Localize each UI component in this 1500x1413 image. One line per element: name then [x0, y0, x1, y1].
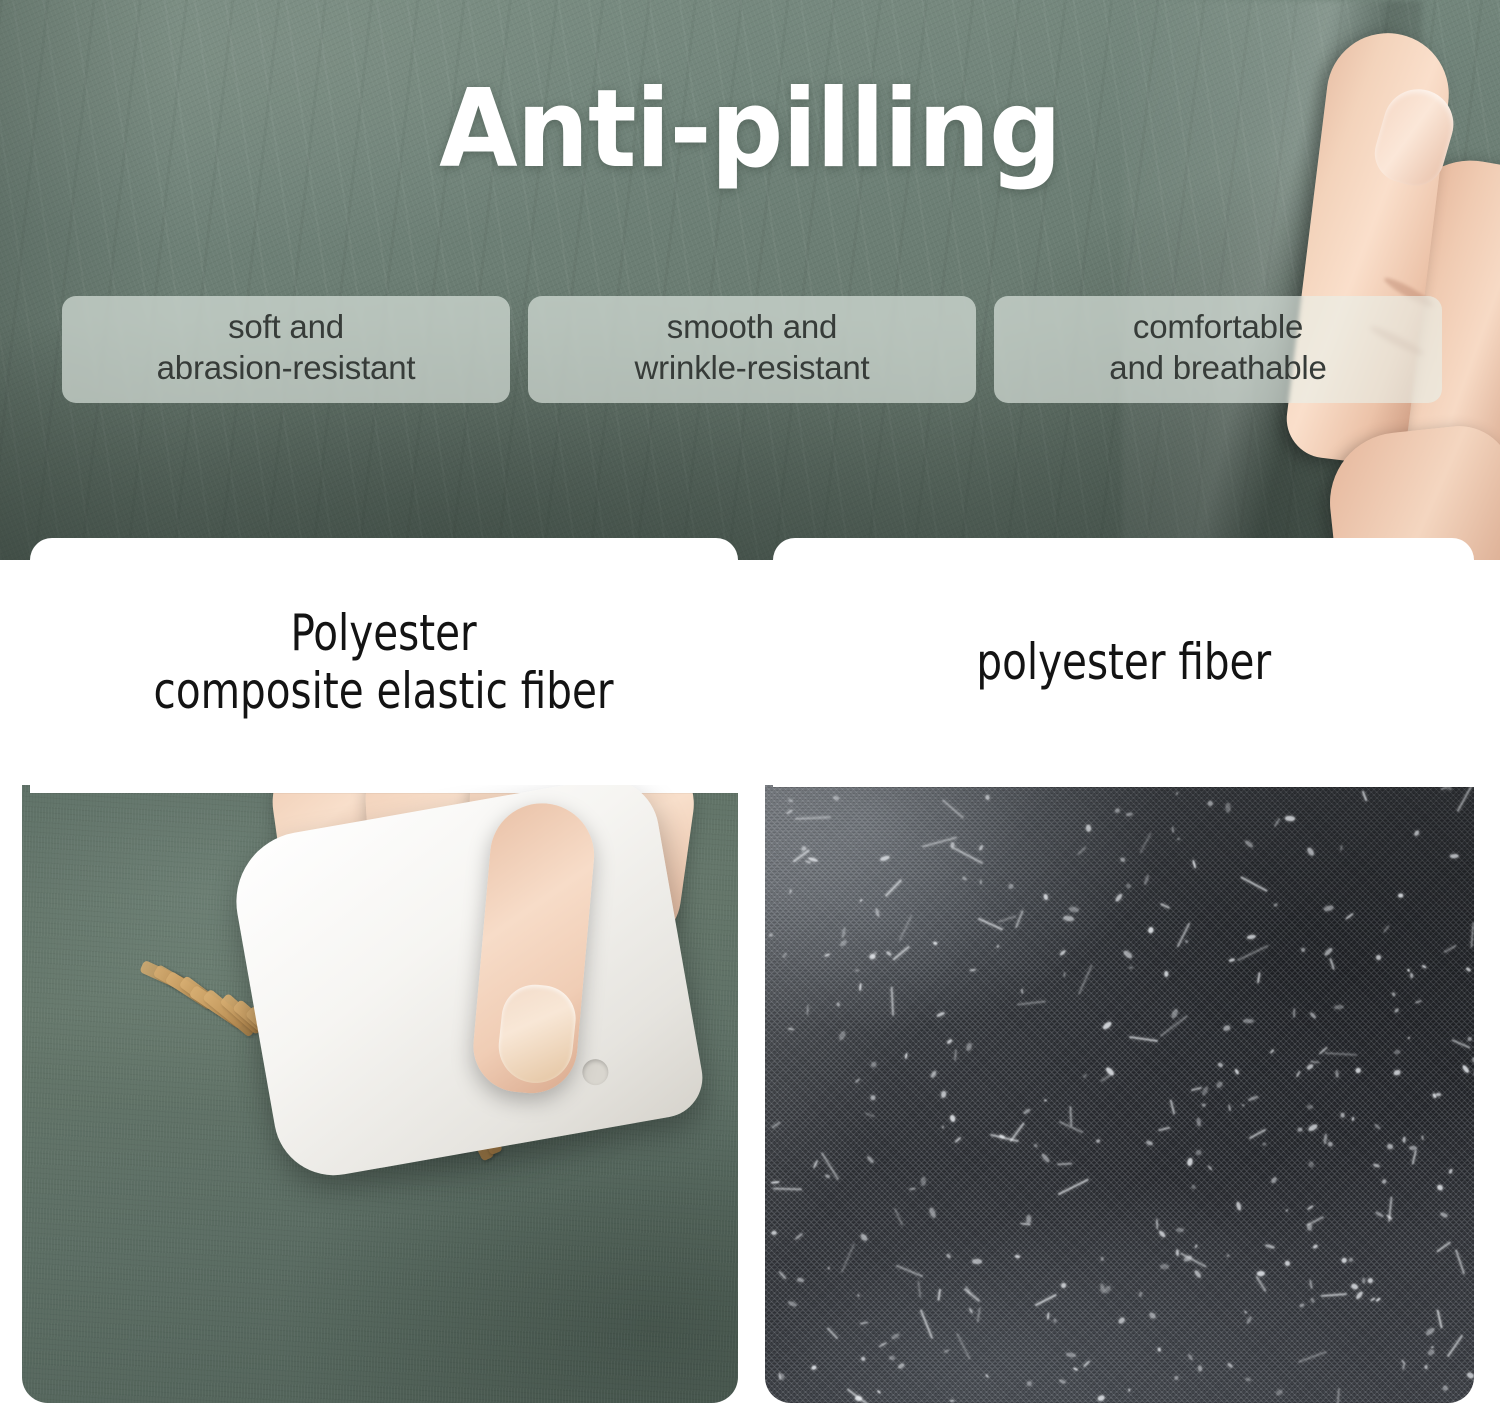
lint-pill: [985, 1374, 989, 1379]
lint-pill: [1157, 1347, 1161, 1351]
lint-fiber: [1470, 922, 1474, 947]
lint-pill: [1207, 800, 1214, 807]
lint-pills-layer: [765, 785, 1474, 1403]
caption-line1: Polyester: [154, 604, 614, 662]
lint-pill: [1223, 1025, 1232, 1032]
lint-fiber: [1436, 1310, 1442, 1329]
photo-pilled-grey-fabric: [765, 785, 1474, 1403]
lint-pill: [946, 1254, 952, 1260]
lint-pill: [1306, 1105, 1313, 1110]
lint-pill: [1015, 1255, 1020, 1259]
lint-pill: [839, 938, 848, 947]
lint-pill: [1310, 1297, 1315, 1303]
lint-fiber: [1177, 923, 1191, 948]
lint-pill: [1472, 1057, 1474, 1062]
lint-pill: [1043, 894, 1048, 901]
lint-pill: [787, 799, 793, 804]
lint-pill: [786, 809, 793, 814]
lint-pill: [969, 1308, 974, 1314]
feature-pill-line1: comfortable: [1008, 307, 1428, 348]
lint-fiber: [976, 1307, 980, 1322]
lint-pill: [771, 1230, 777, 1234]
lint-pill: [1297, 1128, 1302, 1132]
lint-pill: [1285, 1209, 1288, 1212]
lint-pill: [1234, 1069, 1239, 1075]
caption-card-polyester-fiber: polyester fiber: [773, 538, 1474, 787]
lint-pill: [782, 952, 788, 958]
lint-pill: [1098, 1395, 1106, 1402]
lint-pill: [1193, 1269, 1202, 1279]
lint-pill: [1285, 1260, 1290, 1265]
lint-fiber: [1444, 944, 1457, 953]
lint-pill: [777, 1270, 786, 1279]
caption-line2: composite elastic fiber: [154, 662, 614, 720]
lint-pill: [1300, 948, 1306, 954]
lint-pill: [889, 1356, 895, 1360]
lint-pill: [1172, 826, 1174, 832]
lint-pill: [1023, 1108, 1031, 1115]
lint-pill: [1373, 1163, 1380, 1168]
lint-pill: [972, 1259, 982, 1264]
lint-pill: [921, 1177, 926, 1186]
feature-pill-row: soft and abrasion-resistant smooth and w…: [62, 296, 1442, 403]
lint-pill: [1262, 1143, 1267, 1147]
lint-fiber: [1412, 1149, 1417, 1164]
lint-fiber: [956, 1333, 971, 1359]
lint-pill: [1393, 1049, 1400, 1055]
lint-pill: [1086, 825, 1091, 833]
feature-pill-soft-abrasion-resistant: soft and abrasion-resistant: [62, 296, 510, 403]
lint-pill: [1244, 840, 1254, 849]
lint-pill: [1026, 1215, 1031, 1224]
lint-pill: [1195, 1149, 1202, 1156]
lint-pill: [1243, 1019, 1254, 1024]
lint-pill: [805, 860, 812, 864]
lint-pill: [1235, 1201, 1242, 1211]
lint-pill: [1058, 1378, 1066, 1383]
lint-pill: [1306, 847, 1315, 857]
lint-pill: [1064, 972, 1066, 977]
lint-pill: [869, 1094, 876, 1101]
lint-pill: [1117, 1317, 1126, 1326]
lint-pill: [1008, 883, 1014, 889]
feature-pill-line2: wrinkle-resistant: [542, 348, 962, 389]
lint-fiber: [1017, 1000, 1046, 1005]
lint-pill: [825, 1174, 831, 1179]
lint-pill: [1101, 1021, 1112, 1031]
lint-pill: [1082, 1074, 1087, 1079]
lint-pill: [1393, 1008, 1399, 1014]
lint-pill: [904, 1053, 907, 1060]
lint-pill: [1413, 829, 1420, 836]
lint-fiber: [1325, 1052, 1357, 1056]
lint-fiber: [896, 1265, 924, 1278]
lint-pill: [1439, 1212, 1448, 1219]
lint-pill: [1176, 1228, 1184, 1233]
lint-pill: [1376, 1298, 1381, 1302]
lint-pill: [1207, 1165, 1213, 1171]
lint-fiber: [954, 1050, 957, 1061]
lint-pill: [936, 1011, 946, 1018]
lint-pill: [1296, 1070, 1301, 1077]
lint-fiber: [1160, 903, 1170, 909]
lint-pill: [1407, 968, 1410, 971]
lint-fiber: [1191, 1086, 1202, 1091]
lint-fiber: [920, 1310, 933, 1339]
caption-card-polyester-composite: Polyester composite elastic fiber: [30, 538, 738, 793]
lint-pill: [928, 1207, 937, 1219]
lint-pill: [1308, 1160, 1315, 1168]
lint-pill: [1327, 1141, 1333, 1147]
lint-pill: [1270, 1176, 1278, 1185]
feature-pill-line2: abrasion-resistant: [76, 348, 496, 389]
lint-fiber: [1321, 1293, 1347, 1297]
lint-pill: [1218, 1062, 1224, 1068]
lint-pill: [943, 1349, 950, 1354]
lint-fiber: [1170, 1099, 1176, 1114]
lint-pill: [1034, 1143, 1038, 1147]
lint-pill: [858, 983, 861, 992]
lint-pill: [1101, 1257, 1104, 1261]
lint-pill: [1188, 1354, 1194, 1362]
lint-pill: [891, 1332, 901, 1340]
feature-pill-smooth-wrinkle-resistant: smooth and wrinkle-resistant: [528, 296, 976, 403]
lint-fiber: [1307, 1216, 1325, 1226]
lint-pill: [841, 927, 847, 938]
lint-fiber: [1160, 1015, 1188, 1037]
lint-fiber: [1297, 1351, 1326, 1363]
lint-pill: [1228, 1104, 1232, 1112]
lint-fiber: [1249, 1128, 1267, 1139]
lint-pill: [1227, 1255, 1230, 1258]
lint-pill: [1391, 991, 1396, 996]
lint-pill: [1139, 1292, 1142, 1297]
lint-pill: [1340, 1113, 1345, 1118]
lint-pill: [1394, 1069, 1402, 1076]
lint-pill: [1348, 1258, 1353, 1263]
lint-pill: [812, 1160, 818, 1169]
lint-pill: [1170, 1008, 1179, 1019]
lint-pill: [1225, 803, 1231, 813]
lint-pill: [1306, 1064, 1314, 1071]
lint-pill: [860, 1321, 869, 1325]
lint-pill: [1229, 958, 1235, 962]
lint-fiber: [1255, 1275, 1266, 1291]
lint-fiber: [1139, 833, 1152, 854]
lint-pill: [1115, 893, 1124, 903]
lint-pill: [1285, 816, 1295, 821]
lint-pill: [811, 1365, 817, 1370]
lint-pill: [1148, 927, 1154, 934]
lint-pill: [1083, 1360, 1091, 1368]
lint-pill: [909, 1188, 916, 1191]
lint-pill: [1066, 1352, 1077, 1357]
lint-pill: [1355, 1291, 1364, 1301]
lint-pill: [768, 933, 773, 937]
lint-pill: [1424, 1327, 1435, 1337]
lint-pill: [1164, 971, 1169, 978]
feature-pill-line1: smooth and: [542, 307, 962, 348]
lint-pill: [979, 880, 982, 885]
lint-pill: [1375, 1211, 1385, 1218]
lint-fiber: [1057, 1162, 1072, 1165]
lint-pill: [1467, 1037, 1472, 1041]
lint-pill: [1299, 1303, 1305, 1308]
lint-fiber: [1457, 785, 1474, 811]
lint-pill: [1334, 1069, 1338, 1077]
lint-pill: [1334, 1004, 1344, 1009]
lint-pill: [1309, 1279, 1313, 1289]
lint-pill: [969, 969, 976, 972]
lint-fiber: [899, 915, 913, 942]
caption-line1: polyester fiber: [976, 633, 1271, 691]
lint-pill: [880, 855, 891, 862]
lint-pill: [1173, 1375, 1179, 1381]
lint-pill: [1323, 947, 1333, 957]
lint-fiber: [1158, 1127, 1170, 1132]
lint-pill: [1309, 1011, 1317, 1019]
lint-fiber: [1237, 944, 1268, 961]
lint-pill: [950, 1399, 954, 1402]
lint-pill: [898, 1362, 906, 1369]
lint-pill: [978, 845, 984, 852]
lint-fiber: [1129, 1035, 1158, 1041]
lint-pill: [1247, 934, 1256, 939]
lint-pill: [947, 1038, 953, 1044]
lint-pill: [949, 1114, 956, 1122]
lint-fiber: [893, 945, 910, 960]
lint-pill: [1059, 949, 1067, 956]
lint-pill: [1125, 883, 1131, 889]
lint-pill: [1197, 1366, 1202, 1372]
lint-fiber: [1455, 1249, 1465, 1274]
lint-fiber: [917, 1281, 921, 1298]
lint-pill: [1466, 967, 1472, 972]
lint-pill: [837, 1030, 846, 1041]
lint-pill: [1264, 1244, 1275, 1249]
lint-pill: [1350, 1283, 1358, 1291]
lint-fiber: [964, 1288, 981, 1302]
lint-pill: [788, 1027, 794, 1030]
lint-pill: [1374, 1123, 1381, 1129]
lint-pill: [855, 1078, 860, 1083]
lint-pill: [855, 970, 859, 973]
lint-pill: [941, 1090, 947, 1098]
lint-pill: [1466, 1372, 1474, 1380]
lint-pill: [1201, 1104, 1206, 1108]
lint-fiber: [942, 799, 965, 819]
lint-pill: [1146, 1140, 1154, 1146]
lint-pill: [1339, 844, 1343, 851]
lint-pill: [1472, 1069, 1474, 1077]
lint-pill: [1409, 973, 1413, 978]
lint-pill: [1275, 1389, 1283, 1397]
lint-pill: [961, 876, 967, 881]
lint-pill: [1424, 1365, 1427, 1370]
lint-pill: [1156, 1219, 1158, 1230]
lint-pill: [874, 908, 879, 917]
lint-pill: [1160, 1264, 1169, 1269]
lint-pill: [941, 1125, 944, 1129]
lint-pill: [1447, 787, 1452, 792]
lint-pill: [1143, 874, 1150, 885]
lint-pill: [1241, 1104, 1244, 1107]
lint-pill: [1044, 1100, 1047, 1103]
lint-pill: [860, 1233, 869, 1242]
lint-pill: [1247, 1095, 1258, 1101]
lint-fiber: [773, 1188, 802, 1191]
feature-pill-line2: and breathable: [1008, 348, 1428, 389]
photo-brush-on-green-fabric: [22, 785, 738, 1403]
lint-pill: [771, 1180, 780, 1183]
lint-pill: [796, 1277, 804, 1282]
lint-pill: [867, 1155, 875, 1163]
lint-pill: [1127, 1389, 1130, 1392]
lint-pill: [1351, 1116, 1354, 1120]
comparison-panel-right: polyester fiber: [765, 538, 1474, 1403]
lint-pill: [965, 1042, 972, 1051]
lint-fiber: [1057, 1179, 1089, 1196]
lint-pill: [1129, 967, 1133, 970]
lint-fiber: [890, 987, 893, 1016]
lint-fiber: [1257, 972, 1261, 984]
lint-pill: [1402, 1363, 1406, 1371]
comparison-panel-left: Polyester composite elastic fiber: [22, 538, 738, 1403]
lint-pill: [1157, 1229, 1166, 1238]
lint-pill: [1149, 1311, 1157, 1319]
lint-pill: [1408, 1037, 1411, 1039]
lint-pill: [836, 1002, 840, 1007]
lint-pill: [856, 1294, 860, 1298]
lint-fiber: [893, 1208, 903, 1226]
lint-pill: [1370, 1297, 1375, 1301]
lint-pill: [860, 1356, 866, 1362]
lint-pill: [1196, 1117, 1202, 1127]
lint-pill: [1355, 1068, 1360, 1073]
lint-pill: [1021, 989, 1024, 994]
lint-pill: [1187, 1157, 1194, 1165]
lint-fiber: [998, 915, 1016, 923]
lint-fiber: [1078, 965, 1093, 995]
lint-pill: [1245, 1376, 1252, 1381]
lint-pill: [1244, 1311, 1247, 1315]
lint-fiber: [826, 1327, 837, 1339]
lint-pill: [1381, 1179, 1386, 1185]
lint-pill: [827, 1266, 831, 1270]
lint-pill: [1382, 924, 1390, 933]
lint-pill: [1362, 1277, 1366, 1283]
lint-pill: [1176, 792, 1179, 795]
feature-pill-comfortable-breathable: comfortable and breathable: [994, 296, 1442, 403]
lint-fiber: [1335, 1388, 1339, 1403]
lint-pill: [1427, 1349, 1435, 1357]
lint-pill: [1274, 818, 1281, 828]
lint-pill: [1344, 912, 1354, 920]
lint-fiber: [1015, 910, 1024, 928]
lint-fiber: [1034, 1294, 1056, 1307]
brush-hang-hole: [580, 1057, 610, 1087]
lint-pill: [1194, 1244, 1198, 1249]
lint-pill: [788, 1301, 798, 1308]
lint-pill: [986, 794, 991, 800]
lint-fiber: [1362, 791, 1368, 802]
lint-fiber: [795, 817, 831, 821]
lint-pill: [1375, 954, 1381, 960]
lint-pill: [1461, 1064, 1470, 1074]
lint-pill: [860, 899, 864, 903]
lint-pill: [1100, 1283, 1105, 1292]
lint-pill: [955, 1136, 962, 1143]
hero-fabric-photo: Anti-pilling soft and abrasion-resistant…: [0, 0, 1500, 560]
lint-pill: [1342, 1257, 1348, 1263]
lint-pill: [1323, 905, 1334, 912]
lint-fiber: [1446, 1335, 1462, 1357]
page-title: Anti-pilling: [45, 76, 1455, 184]
lint-pill: [1367, 1277, 1373, 1282]
lint-pill: [824, 953, 830, 957]
lint-fiber: [865, 1113, 875, 1119]
feature-pill-line1: soft and: [76, 307, 496, 348]
lint-pill: [1421, 1135, 1424, 1141]
lint-fiber: [1077, 846, 1087, 855]
lint-pill: [878, 1342, 887, 1348]
lint-pill: [1201, 1085, 1209, 1096]
lint-pill: [1053, 1319, 1056, 1323]
lint-pill: [933, 941, 938, 944]
lint-fiber: [1436, 1241, 1451, 1253]
product-feature-image: Anti-pilling soft and abrasion-resistant…: [0, 0, 1500, 1413]
lint-pill: [1177, 838, 1180, 840]
lint-pill: [1270, 1049, 1275, 1054]
lint-pill: [1126, 813, 1133, 817]
lint-pill: [1308, 1123, 1319, 1132]
lint-pill: [1227, 1362, 1234, 1368]
lint-pill: [1096, 1139, 1100, 1143]
lint-pill: [788, 889, 791, 894]
lint-pill: [1386, 1143, 1393, 1150]
lint-pill: [1442, 1385, 1449, 1392]
lint-pill: [1060, 1282, 1067, 1289]
lint-pill: [794, 1232, 803, 1240]
lint-pill: [877, 1390, 881, 1394]
lint-pill: [1402, 1137, 1406, 1143]
lint-pill: [833, 795, 840, 801]
lint-pill: [1047, 1312, 1049, 1319]
lint-pill: [1448, 1168, 1453, 1174]
lint-pill: [1398, 893, 1403, 897]
lint-pill: [1041, 1152, 1051, 1163]
lint-pill: [1184, 940, 1188, 944]
lint-pill: [1073, 1367, 1078, 1371]
lint-fiber: [1329, 958, 1335, 970]
lint-pill: [1114, 808, 1120, 814]
lint-fiber: [937, 1288, 941, 1301]
lint-pill: [1192, 860, 1196, 869]
lint-fiber: [1241, 876, 1268, 892]
lint-pill: [1449, 854, 1458, 859]
lint-pill: [870, 1061, 877, 1068]
lint-pill: [868, 954, 875, 960]
lint-pill: [1120, 856, 1126, 862]
lint-pill: [1256, 1271, 1264, 1276]
lint-pill: [1312, 1244, 1317, 1249]
lint-pill: [1122, 949, 1133, 959]
lint-pill: [1191, 1184, 1197, 1190]
lint-pill: [1026, 1380, 1033, 1387]
lint-fiber: [1100, 1074, 1111, 1082]
lint-fiber: [771, 1122, 780, 1129]
lint-pill: [1176, 1249, 1180, 1256]
